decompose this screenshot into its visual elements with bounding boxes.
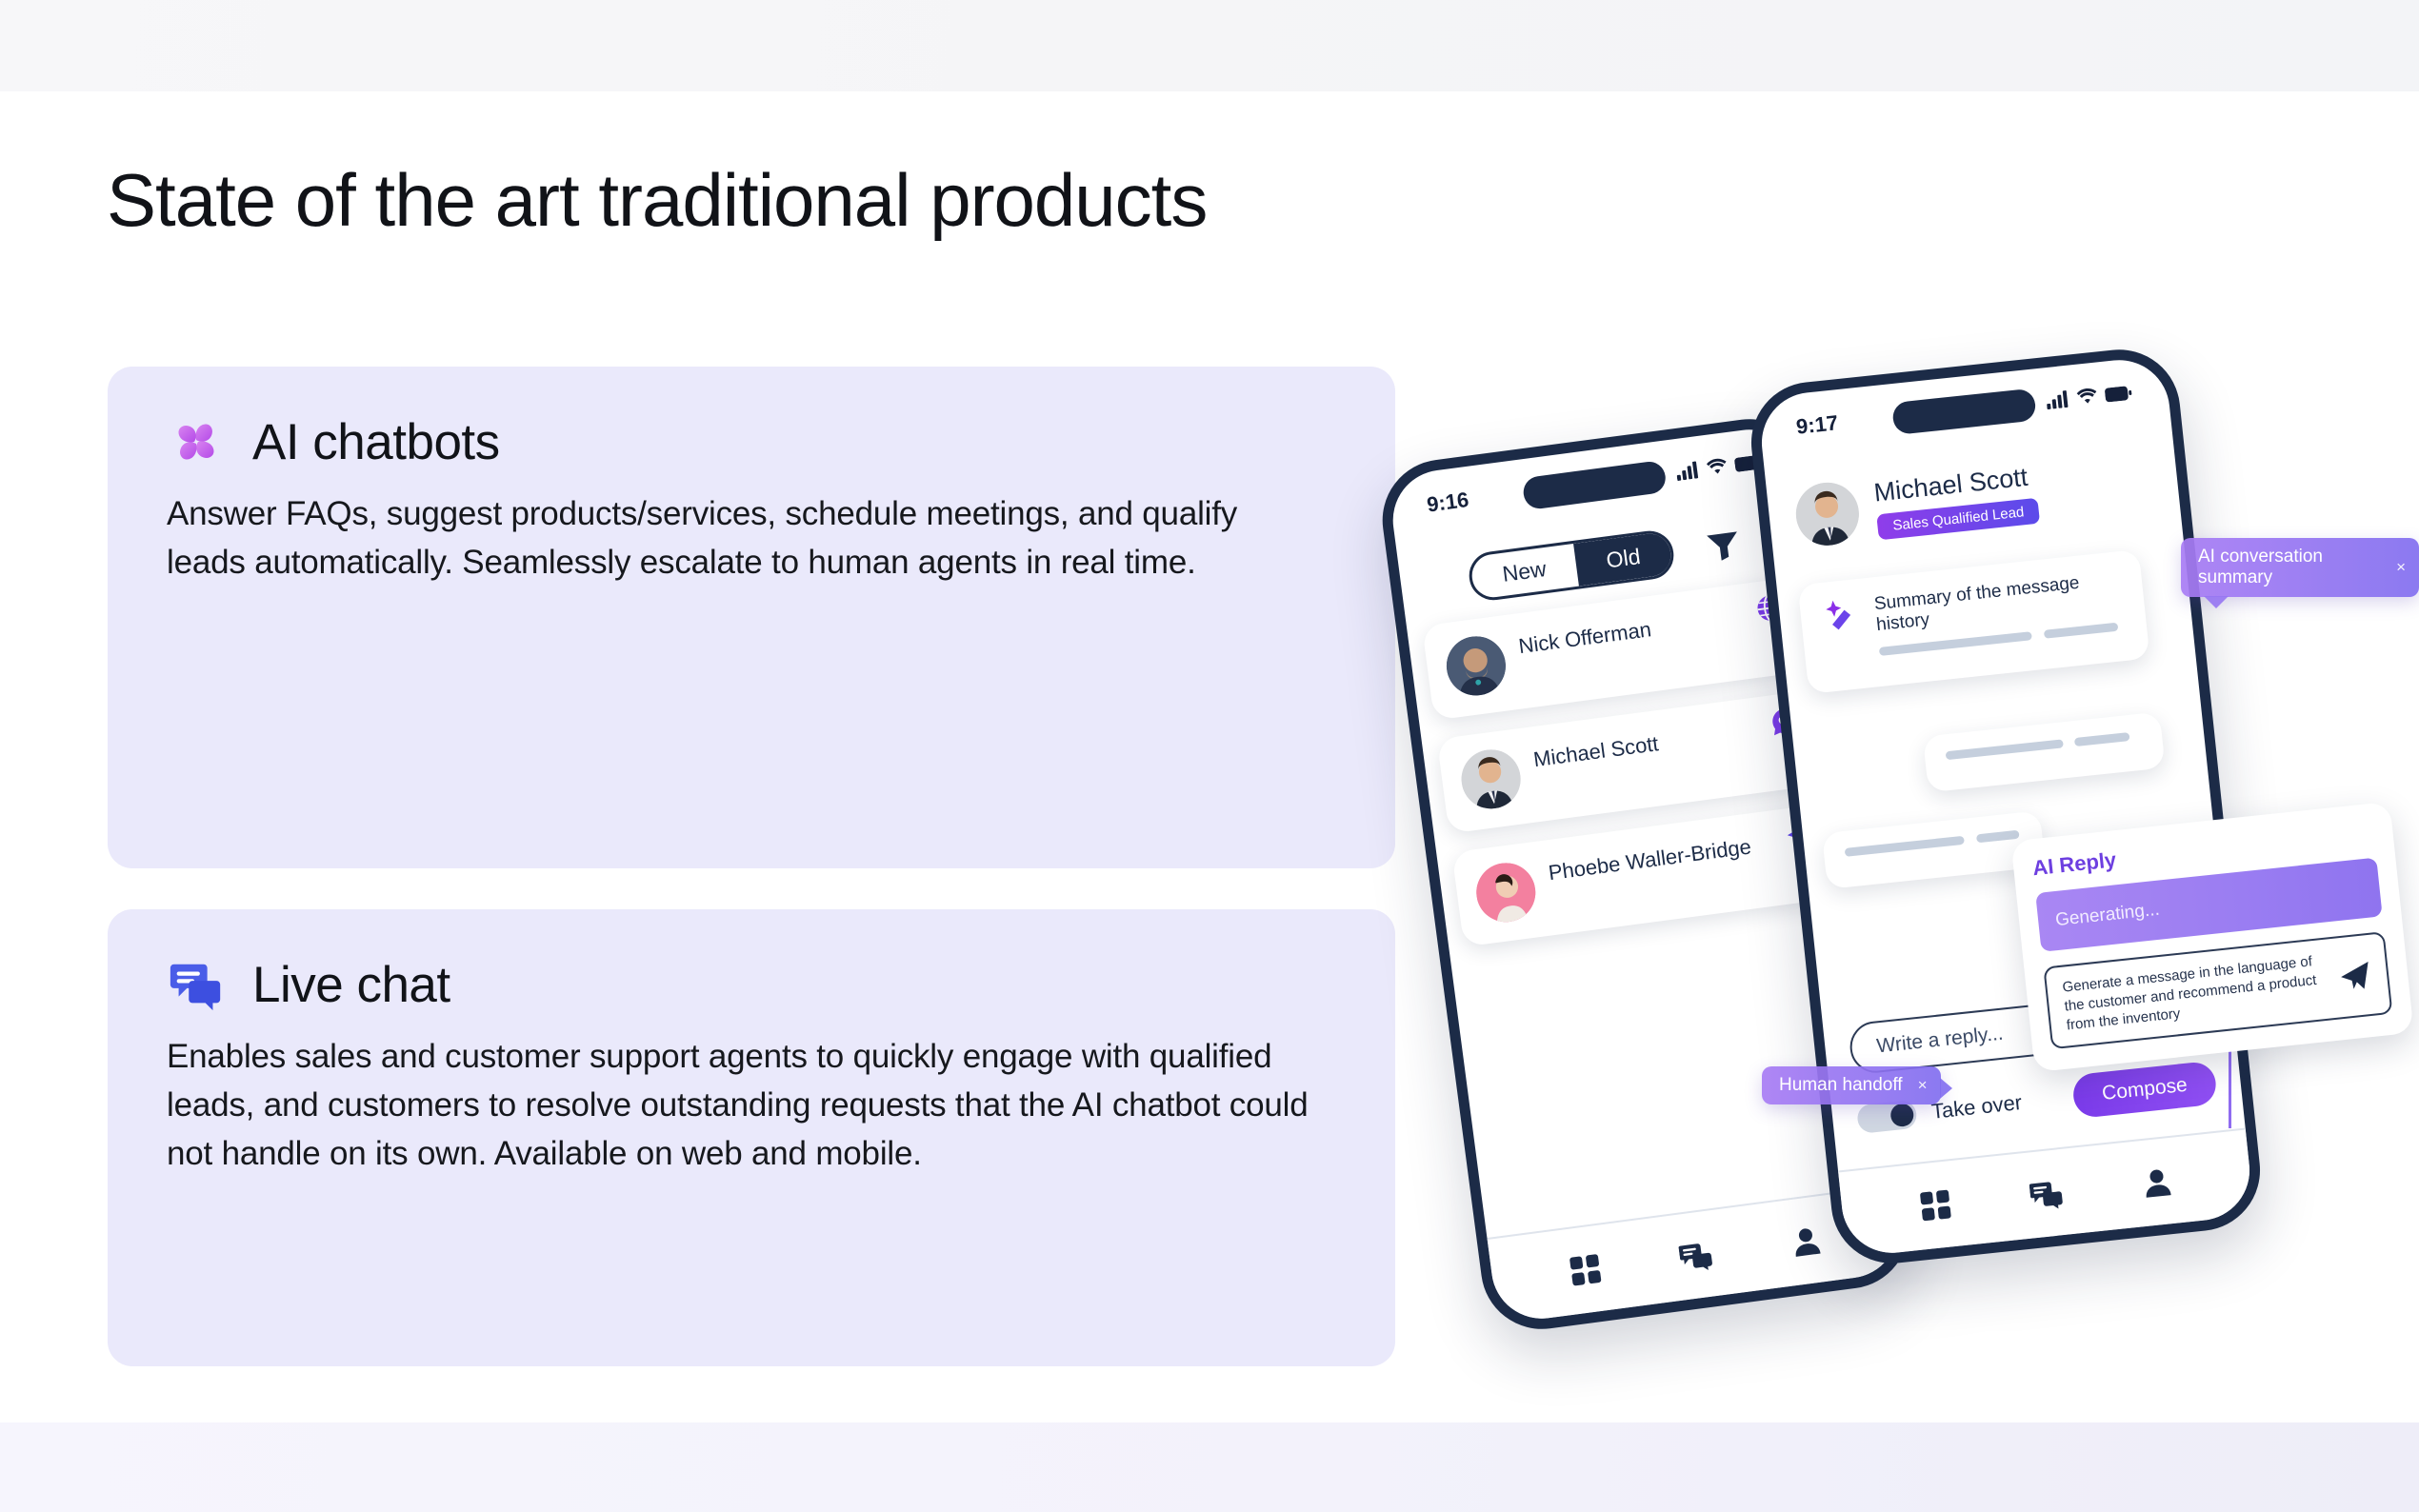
status-icons — [1675, 453, 1763, 482]
card-header: Live chat — [167, 955, 1336, 1014]
callout-label: AI conversation summary — [2198, 547, 2381, 588]
status-time: 9:17 — [1795, 410, 1840, 439]
segment-old[interactable]: Old — [1573, 531, 1673, 587]
card-body: Answer FAQs, suggest products/services, … — [167, 490, 1324, 587]
text-placeholder — [1845, 836, 1966, 857]
card-title: Live chat — [252, 956, 450, 1014]
message-bubble — [1923, 712, 2166, 793]
summary-content: Summary of the message history — [1873, 568, 2128, 669]
battery-icon — [2105, 385, 2132, 402]
list-item-content: Nick Offerman — [1516, 596, 1785, 659]
phone-notch — [1891, 388, 2037, 435]
contact-name: Phoebe Waller-Bridge — [1547, 834, 1752, 885]
chat-bubbles-icon — [167, 955, 226, 1014]
feature-card-ai-chatbots: AI chatbots Answer FAQs, suggest product… — [108, 367, 1395, 868]
grid-icon[interactable] — [1568, 1252, 1604, 1288]
close-icon[interactable]: × — [1918, 1076, 1928, 1095]
segment-new[interactable]: New — [1469, 544, 1579, 600]
phone-conversation: 9:17 Michael S — [1746, 344, 2267, 1269]
text-placeholder — [1976, 830, 2019, 844]
callout-tail — [1940, 1078, 1952, 1099]
status-time: 9:16 — [1426, 487, 1470, 518]
text-placeholder — [1879, 631, 2032, 656]
cellular-icon — [2046, 390, 2070, 409]
feature-card-live-chat: Live chat Enables sales and customer sup… — [108, 909, 1395, 1366]
status-icons — [2046, 384, 2132, 409]
chat-icon[interactable] — [2029, 1176, 2064, 1211]
phone-notch — [1522, 460, 1668, 510]
card-title: AI chatbots — [252, 413, 500, 471]
list-item-content: Phoebe Waller-Bridge — [1547, 823, 1815, 885]
ai-prompt-text: Generate a message in the language of th… — [2062, 951, 2331, 1035]
callout-label: Human handoff — [1779, 1075, 1903, 1096]
page-title: State of the art traditional products — [107, 157, 1207, 244]
person-icon[interactable] — [1788, 1223, 1824, 1259]
filter-icon[interactable] — [1706, 529, 1742, 562]
pinwheel-icon — [167, 412, 226, 471]
card-body: Enables sales and customer support agent… — [167, 1033, 1324, 1178]
ai-prompt-input[interactable]: Generate a message in the language of th… — [2043, 931, 2392, 1050]
text-placeholder — [1946, 739, 2064, 760]
contact-name: Nick Offerman — [1517, 617, 1652, 658]
text-placeholder — [2044, 623, 2119, 639]
avatar — [1472, 860, 1539, 926]
slide-root: State of the art traditional products — [0, 0, 2419, 1512]
message-bubble — [1822, 810, 2046, 889]
text-placeholder — [2118, 627, 2120, 644]
grid-icon[interactable] — [1918, 1187, 1953, 1223]
list-item-content: Michael Scott — [1531, 709, 1800, 772]
person-icon[interactable] — [2139, 1164, 2174, 1200]
send-icon[interactable] — [2337, 959, 2372, 994]
close-icon[interactable]: × — [2396, 558, 2406, 577]
bottom-strip — [0, 1422, 2419, 1512]
ai-reply-panel: AI Reply Generating... Generate a messag… — [2010, 802, 2413, 1073]
wifi-icon — [1706, 457, 1729, 477]
contact-info: Michael Scott Sales Qualified Lead — [1872, 461, 2040, 539]
conversation-header: Michael Scott Sales Qualified Lead — [1767, 446, 2181, 551]
chat-icon[interactable] — [1678, 1237, 1714, 1273]
new-old-segmented-control[interactable]: New Old — [1467, 528, 1677, 604]
bottom-tab-bar — [1838, 1128, 2254, 1258]
text-placeholder — [2074, 732, 2129, 746]
contact-name: Michael Scott — [1532, 731, 1660, 771]
wifi-icon — [2076, 388, 2099, 407]
avatar — [1793, 480, 1863, 549]
card-header: AI chatbots — [167, 412, 1336, 471]
top-strip — [0, 0, 2419, 91]
avatar — [1458, 746, 1525, 813]
cellular-icon — [1675, 461, 1700, 481]
callout-tail — [2204, 596, 2229, 608]
callout-ai-conversation-summary[interactable]: AI conversation summary × — [2181, 538, 2419, 597]
take-over-toggle[interactable] — [1856, 1100, 1918, 1134]
magic-wand-icon — [1820, 596, 1864, 640]
callout-human-handoff[interactable]: Human handoff × — [1762, 1066, 1941, 1104]
ai-summary-card: Summary of the message history — [1798, 549, 2150, 694]
compose-button[interactable]: Compose — [2071, 1061, 2218, 1119]
avatar — [1443, 633, 1509, 700]
